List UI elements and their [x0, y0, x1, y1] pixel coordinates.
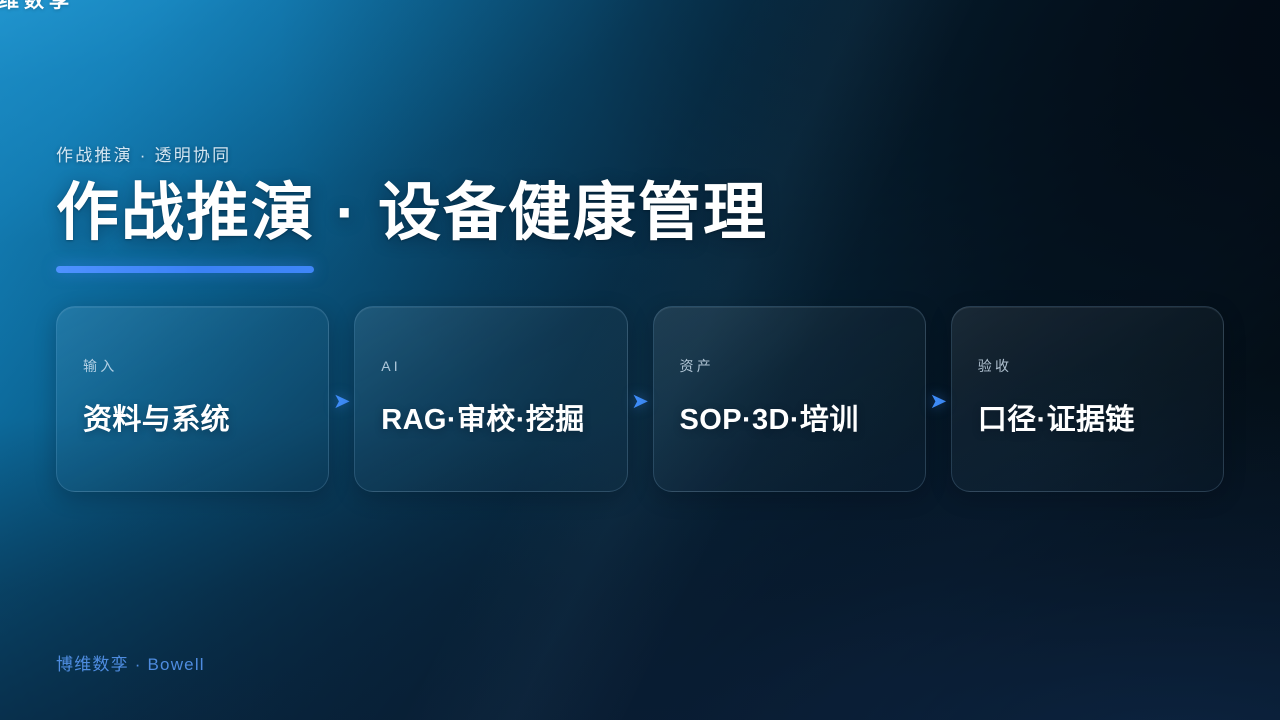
flow-step-card-1[interactable]: 输入 资料与系统 — [56, 306, 329, 492]
flow-step-title: 口径·证据链 — [978, 403, 1197, 438]
flow-connector-1: ➤ — [329, 306, 354, 492]
process-flow: 输入 资料与系统 ➤ AI RAG·审校·挖掘 ➤ 资产 SOP·3D·培训 ➤… — [56, 306, 1224, 492]
heading-block: 作战推演 · 透明协同 作战推演 · 设备健康管理 — [56, 145, 768, 273]
accent-underline-bar — [56, 266, 314, 273]
flow-step-card-3[interactable]: 资产 SOP·3D·培训 — [653, 306, 926, 492]
arrow-right-icon: ➤ — [631, 391, 649, 412]
flow-step-label: 验收 — [978, 359, 1197, 373]
flow-step-label: 资产 — [680, 359, 899, 373]
flow-connector-2: ➤ — [628, 306, 653, 492]
flow-step-label: AI — [381, 359, 600, 373]
brand-mark: 博维数孪 — [0, 0, 74, 11]
flow-connector-3: ➤ — [926, 306, 951, 492]
flow-step-title: SOP·3D·培训 — [680, 403, 899, 438]
page-title: 作战推演 · 设备健康管理 — [56, 178, 768, 250]
flow-step-label: 输入 — [83, 359, 302, 373]
flow-step-card-2[interactable]: AI RAG·审校·挖掘 — [354, 306, 627, 492]
eyebrow-text: 作战推演 · 透明协同 — [56, 145, 768, 167]
flow-step-card-4[interactable]: 验收 口径·证据链 — [951, 306, 1224, 492]
slide-root: 博维数孪 作战推演 · 透明协同 作战推演 · 设备健康管理 输入 资料与系统 … — [0, 0, 1280, 720]
flow-step-title: 资料与系统 — [83, 403, 302, 438]
arrow-right-icon: ➤ — [929, 391, 947, 412]
arrow-right-icon: ➤ — [333, 391, 351, 412]
footer-brand-text: 博维数孪 · Bowell — [56, 650, 205, 675]
flow-step-title: RAG·审校·挖掘 — [381, 403, 600, 438]
